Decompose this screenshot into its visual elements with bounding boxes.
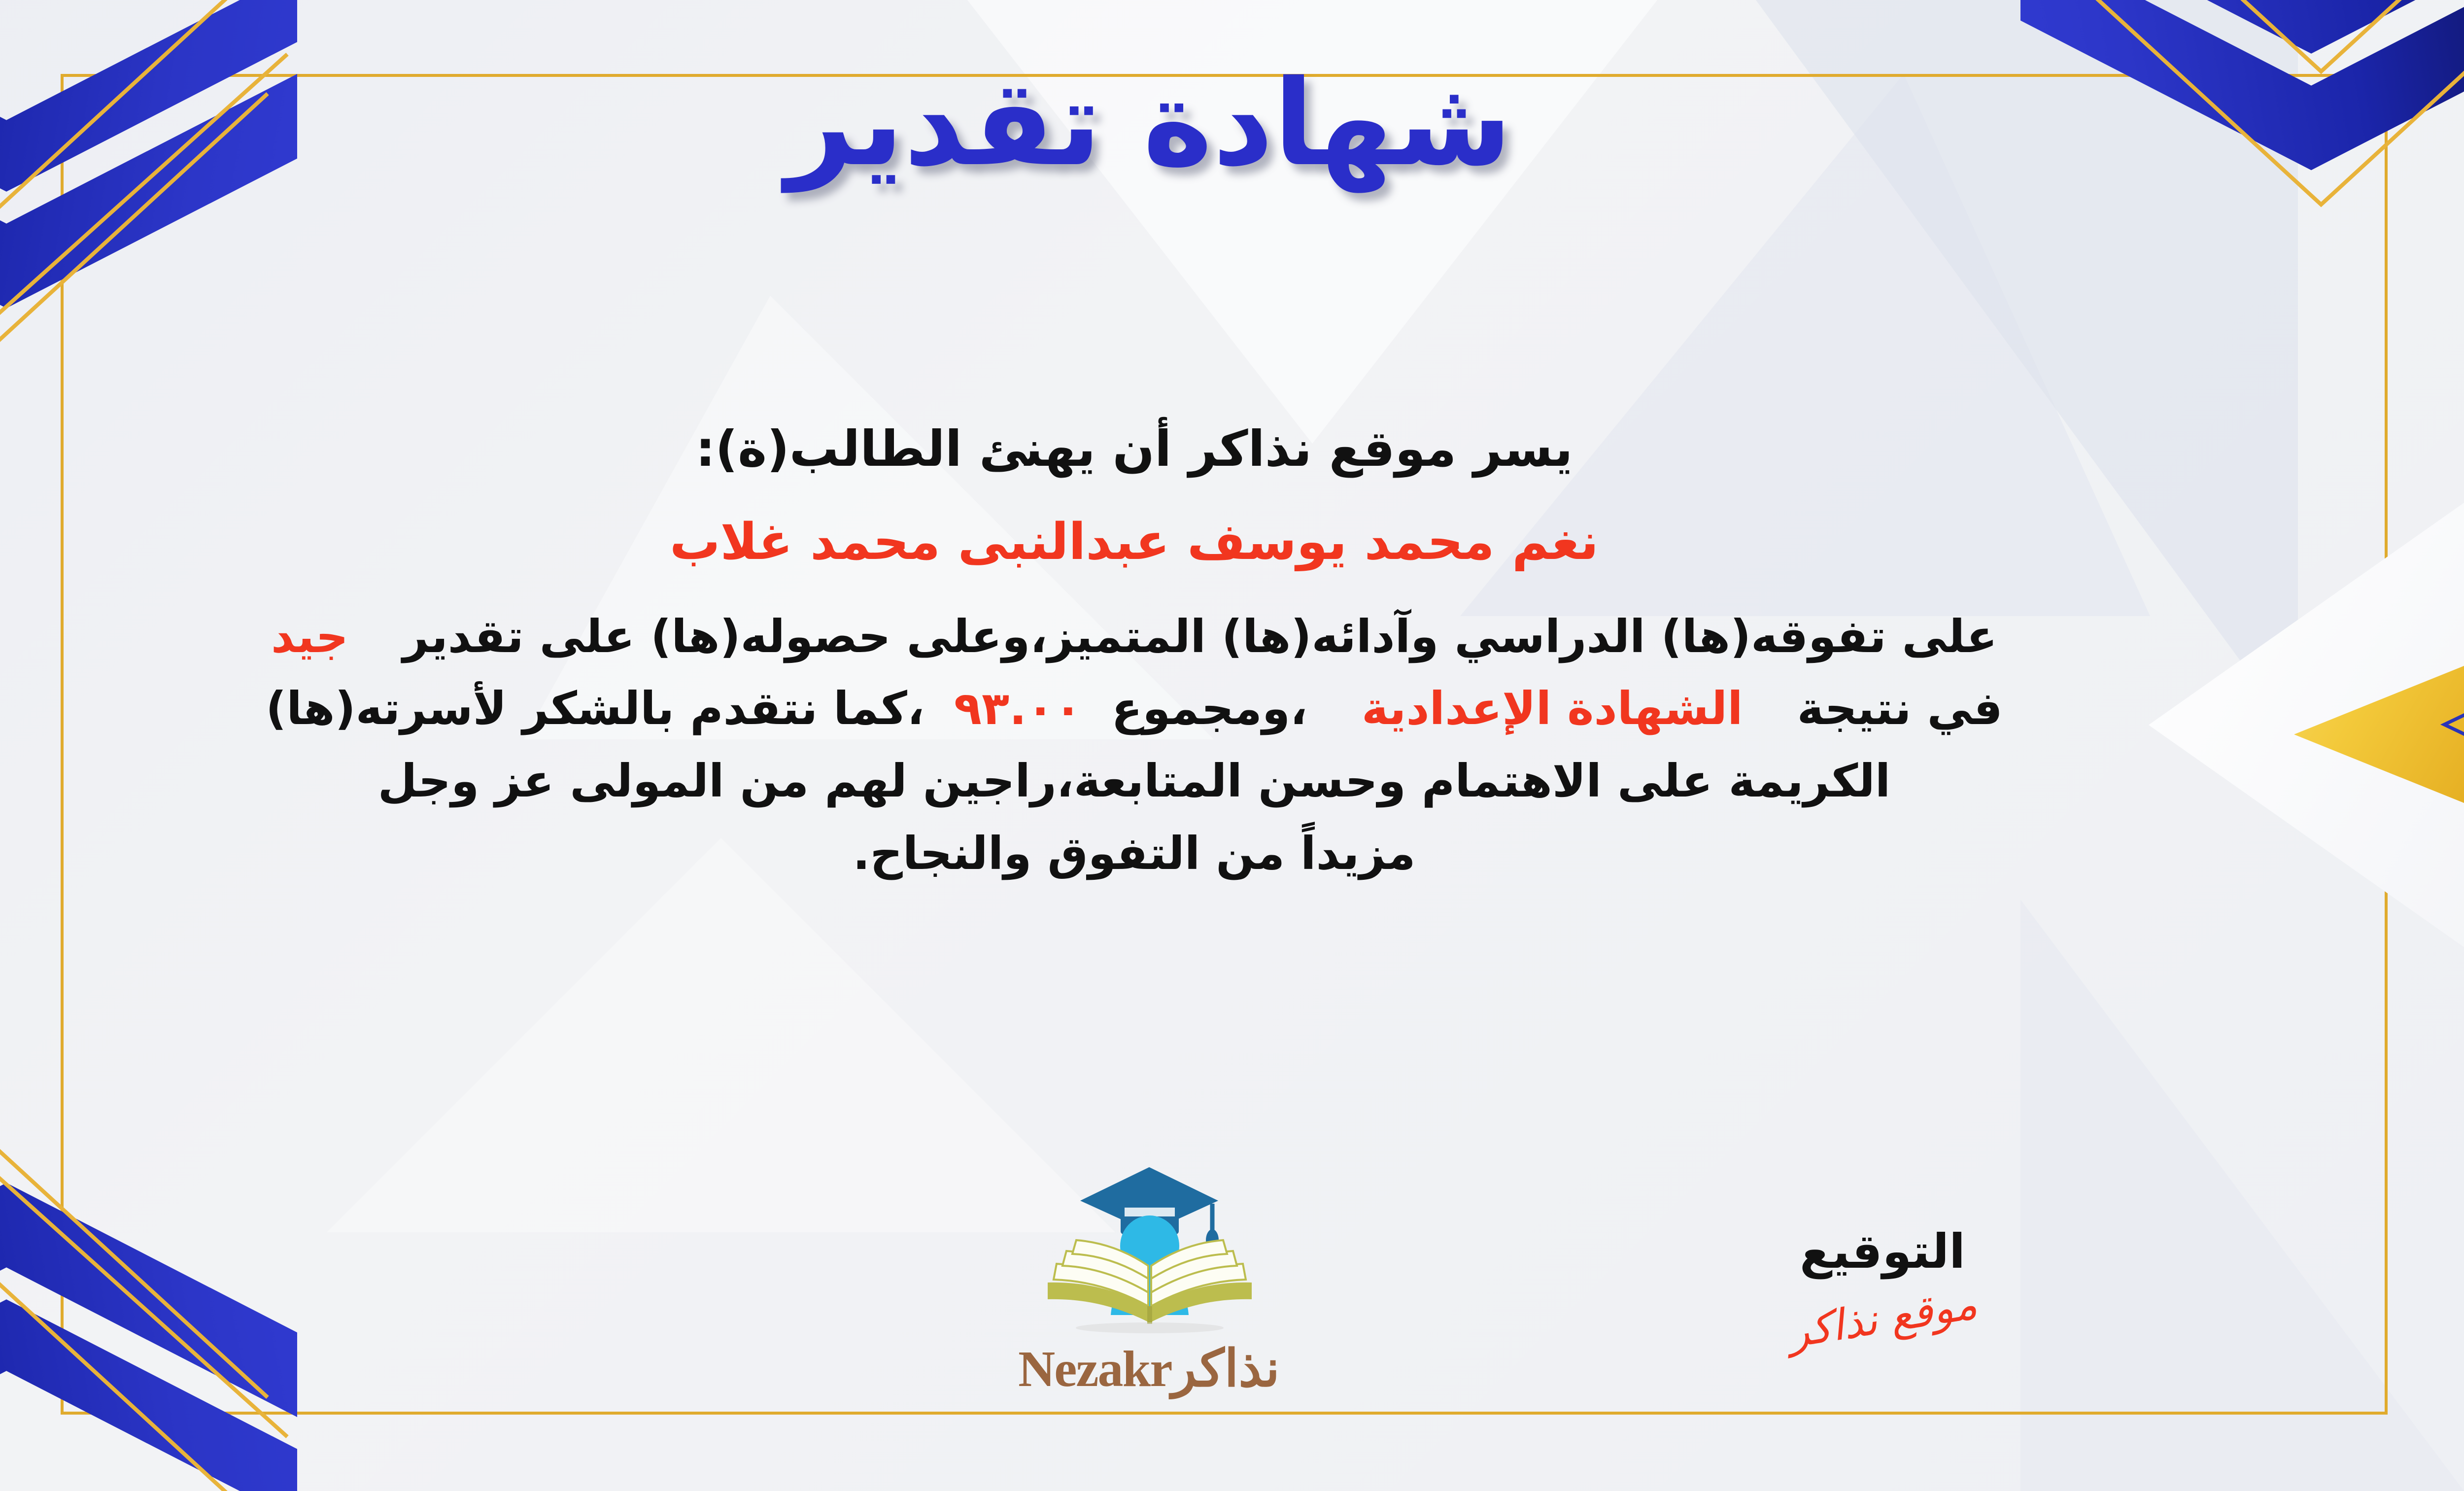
achievement-line: على تفوقه(ها) الدراسي وآدائه(ها) المتميز…	[0, 605, 2316, 669]
logo-wordmark: نذاكرNezakr	[962, 1343, 1336, 1395]
thanks-text: ،كما نتقدم بالشكر لأسرته(ها)	[266, 682, 924, 735]
intro-line: يسر موقع نذاكر أن يهنئ الطالب(ة):	[0, 414, 2316, 484]
logo-arabic-text: نذاكر	[1172, 1338, 1280, 1398]
result-line: في نتيجةالشهادة الإعدادية،ومجموع٩٣.٠٠،كم…	[0, 677, 2316, 741]
exam-name: الشهادة الإعدادية	[1362, 682, 1743, 735]
closing-line: مزيداً من التفوق والنجاح.	[0, 822, 2316, 886]
grade-value: جيد	[271, 610, 348, 663]
family-thanks-line: الكريمة على الاهتمام وحسن المتابعة،راجين…	[0, 749, 2316, 814]
signature-block: التوقيع موقع نذاكر	[1705, 1224, 2060, 1343]
certificate-body: يسر موقع نذاكر أن يهنئ الطالب(ة): نغم مح…	[0, 414, 2316, 894]
certificate-title: شهادة تقدير	[0, 54, 2464, 192]
signature-handwriting: موقع نذاكر	[1785, 1279, 1981, 1357]
result-prefix: في نتيجة	[1797, 682, 2003, 735]
student-name: نغم محمد يوسف عبدالنبى محمد غلاب	[0, 507, 2316, 578]
achievement-text: على تفوقه(ها) الدراسي وآدائه(ها) المتميز…	[403, 610, 1997, 663]
total-label: ،ومجموع	[1111, 682, 1307, 735]
logo-latin-text: Nezakr	[1018, 1341, 1171, 1397]
total-score: ٩٣.٠٠	[954, 682, 1082, 735]
certificate-page: شهادة تقدير يسر موقع نذاكر أن يهنئ الطال…	[0, 0, 2464, 1491]
signature-label: التوقيع	[1705, 1224, 2060, 1279]
site-logo: نذاكرNezakr	[962, 1158, 1336, 1395]
graduate-on-open-book-icon	[1011, 1158, 1287, 1346]
